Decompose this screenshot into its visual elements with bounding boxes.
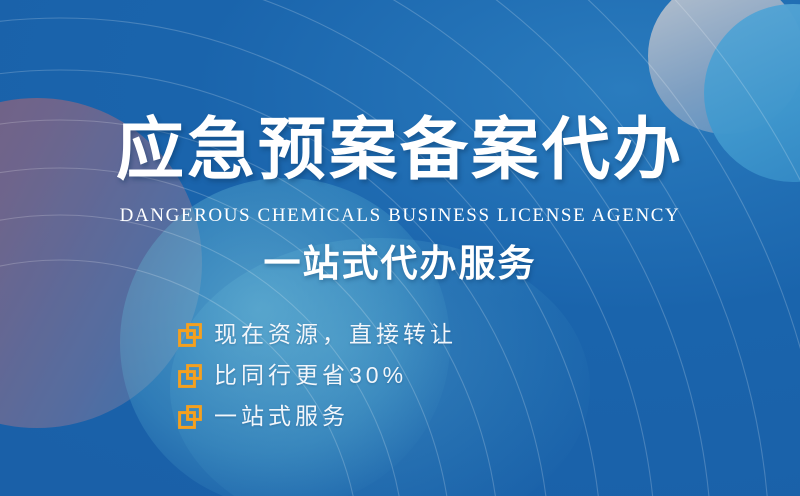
page-subtitle-chinese: 一站式代办服务	[0, 245, 800, 282]
list-item-label: 一站式服务	[214, 405, 349, 428]
page-title: 应急预案备案代办	[0, 116, 800, 184]
overlapping-squares-icon	[178, 364, 202, 388]
list-item-label: 比同行更省30%	[214, 364, 407, 387]
list-item: 比同行更省30%	[178, 355, 457, 396]
list-item-label: 现在资源，直接转让	[214, 323, 457, 346]
feature-list: 现在资源，直接转让 比同行更省30% 一站式	[178, 314, 457, 437]
promo-banner: 应急预案备案代办 DANGEROUS CHEMICALS BUSINESS LI…	[0, 0, 800, 496]
list-item: 一站式服务	[178, 396, 457, 437]
overlapping-squares-icon	[178, 323, 202, 347]
page-subtitle-english: DANGEROUS CHEMICALS BUSINESS LICENSE AGE…	[0, 206, 800, 225]
list-item: 现在资源，直接转让	[178, 314, 457, 355]
banner-content: 应急预案备案代办 DANGEROUS CHEMICALS BUSINESS LI…	[0, 0, 800, 496]
overlapping-squares-icon	[178, 405, 202, 429]
